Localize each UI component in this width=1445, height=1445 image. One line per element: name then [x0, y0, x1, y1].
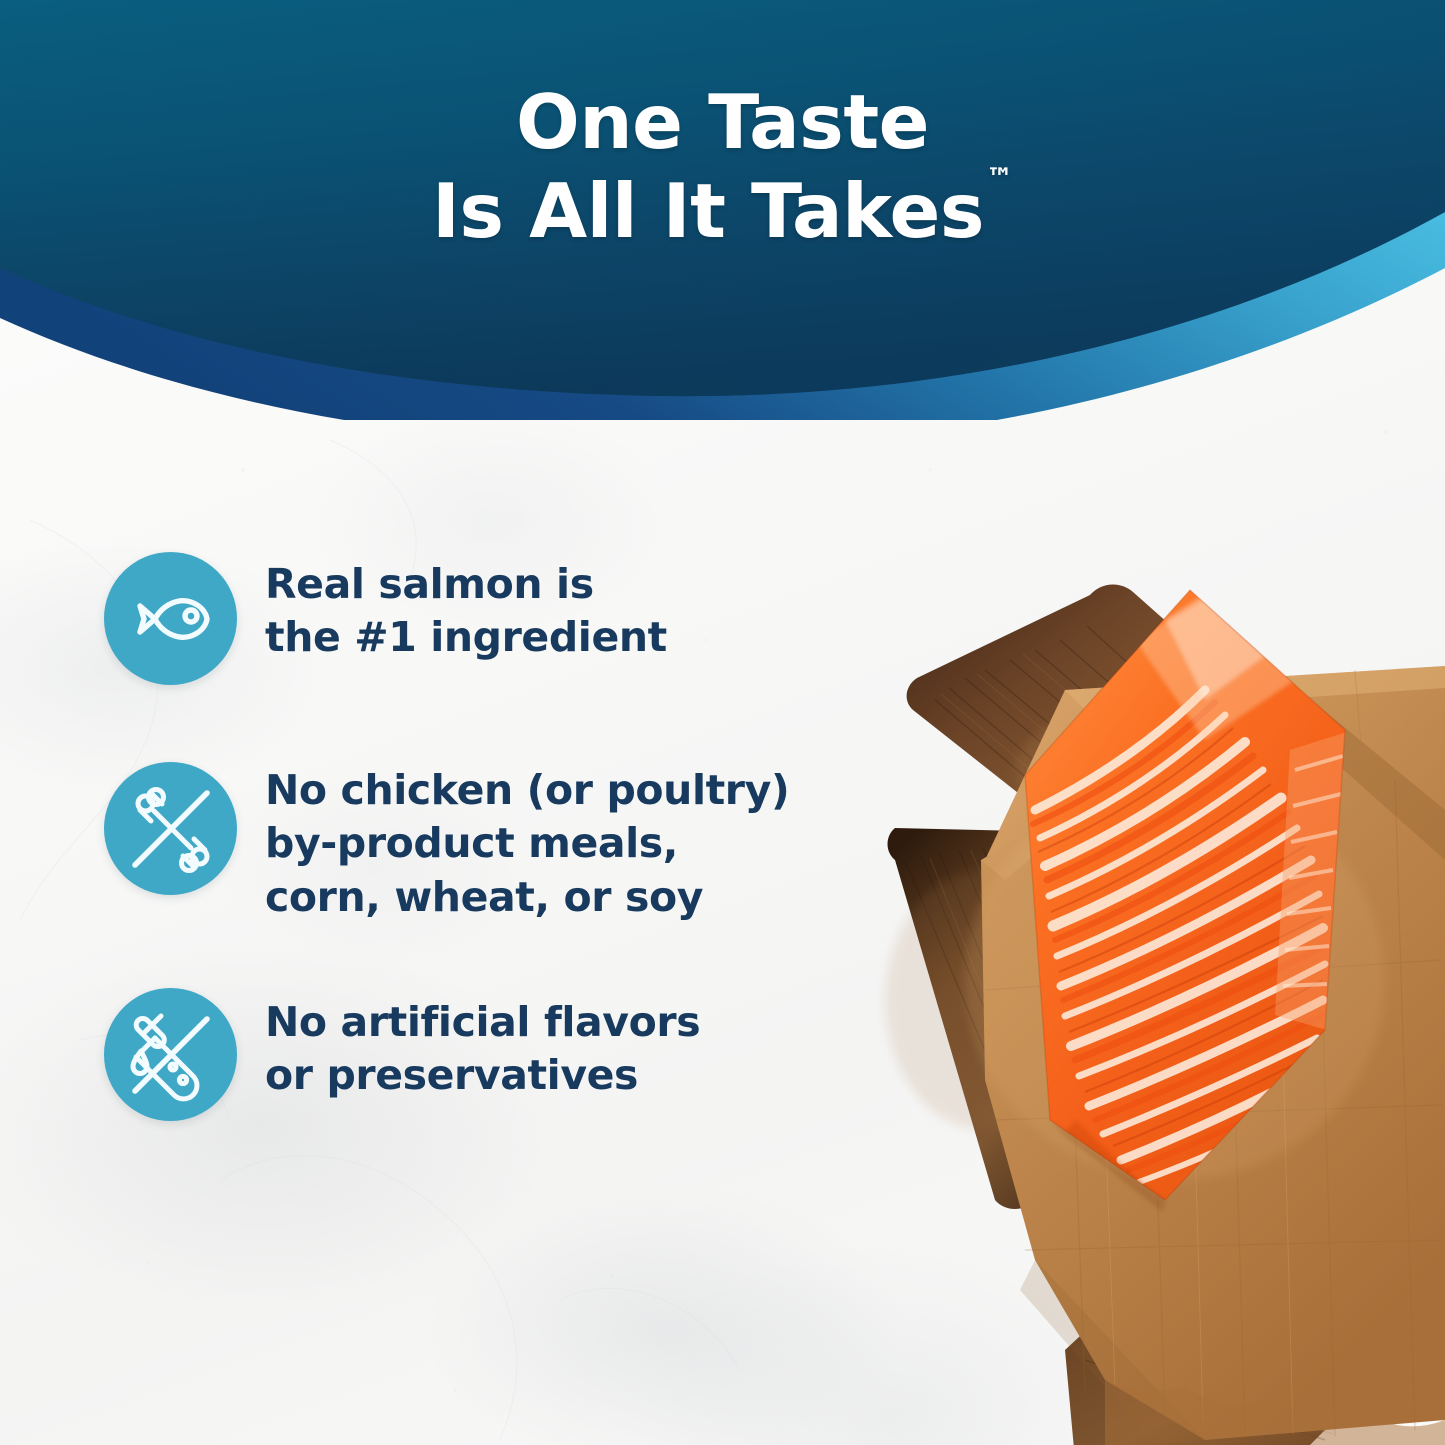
salmon-fillet-photo: [735, 560, 1445, 1445]
no-test-tube-icon: [104, 988, 237, 1121]
headline-line-1: One Taste: [0, 78, 1445, 167]
headline-line-2-text: Is All It Takes: [432, 167, 984, 255]
benefit-text-no-chicken: No chicken (or poultry) by-product meals…: [265, 762, 789, 924]
benefit-line: by-product meals,: [265, 817, 789, 870]
trademark-symbol: ™: [986, 163, 1013, 194]
benefit-item-real-salmon: Real salmon is the #1 ingredient: [104, 552, 667, 685]
benefit-item-no-artificial: No artificial flavors or preservatives: [104, 988, 700, 1121]
benefit-line: the #1 ingredient: [265, 611, 667, 664]
benefit-item-no-chicken: No chicken (or poultry) by-product meals…: [104, 762, 789, 924]
benefit-line: Real salmon is: [265, 558, 667, 611]
benefit-text-no-artificial: No artificial flavors or preservatives: [265, 988, 700, 1103]
no-bone-icon: [104, 762, 237, 895]
benefit-line: No chicken (or poultry): [265, 764, 789, 817]
fish-icon: [104, 552, 237, 685]
benefit-text-real-salmon: Real salmon is the #1 ingredient: [265, 552, 667, 665]
promo-image-root: One Taste Is All It Takes™ Real salmon i…: [0, 0, 1445, 1445]
headline-line-2: Is All It Takes™: [0, 167, 1445, 256]
page-headline: One Taste Is All It Takes™: [0, 78, 1445, 255]
benefit-line: or preservatives: [265, 1049, 700, 1102]
benefit-line: No artificial flavors: [265, 996, 700, 1049]
benefit-line: corn, wheat, or soy: [265, 871, 789, 924]
